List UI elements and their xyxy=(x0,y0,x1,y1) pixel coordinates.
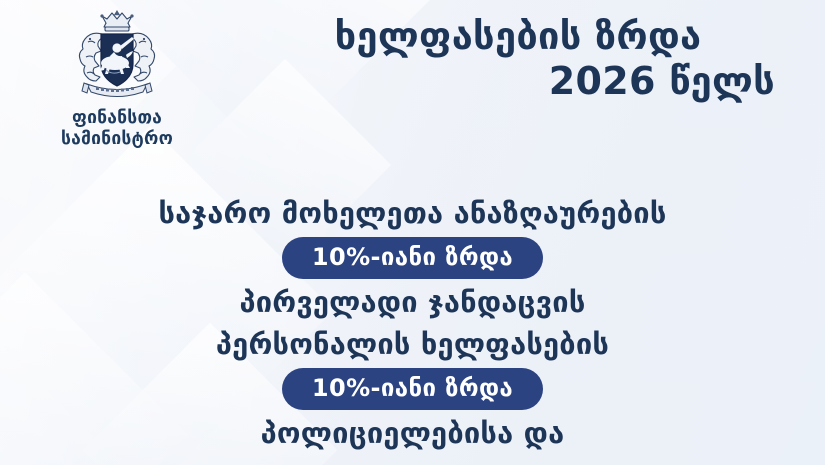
poster-body: საჯარო მოხელეთა ანაზღაურების 10%-იანი ზრ… xyxy=(0,192,825,454)
title-line-2: 2026 წელს xyxy=(253,59,783,104)
infographic-poster: ფინანსთა სამინისტრო ხელფასების ზრდა 2026… xyxy=(0,0,825,465)
body-line-public-servants: საჯარო მოხელეთა ანაზღაურების xyxy=(0,192,825,234)
body-line-police: პოლიციელებისა და xyxy=(0,412,825,454)
ministry-name: ფინანსთა სამინისტრო xyxy=(22,108,212,149)
ministry-branding: ფინანსთა სამინისტრო xyxy=(22,6,212,149)
body-line-primary-healthcare: პირველადი ჯანდაცვის xyxy=(0,281,825,323)
badge-row-2: 10%-იანი ზრდა xyxy=(0,368,825,410)
title-line-1: ხელფასების ზრდა xyxy=(253,14,783,59)
increase-badge-1: 10%-იანი ზრდა xyxy=(282,237,543,279)
poster-title: ხელფასების ზრდა 2026 წელს xyxy=(253,14,783,104)
badge-row-1: 10%-იანი ზრდა xyxy=(0,237,825,279)
increase-badge-2: 10%-იანი ზრდა xyxy=(282,368,543,410)
body-line-personnel-salaries: პერსონალის ხელფასების xyxy=(0,323,825,365)
georgian-coat-of-arms-icon xyxy=(62,6,172,104)
